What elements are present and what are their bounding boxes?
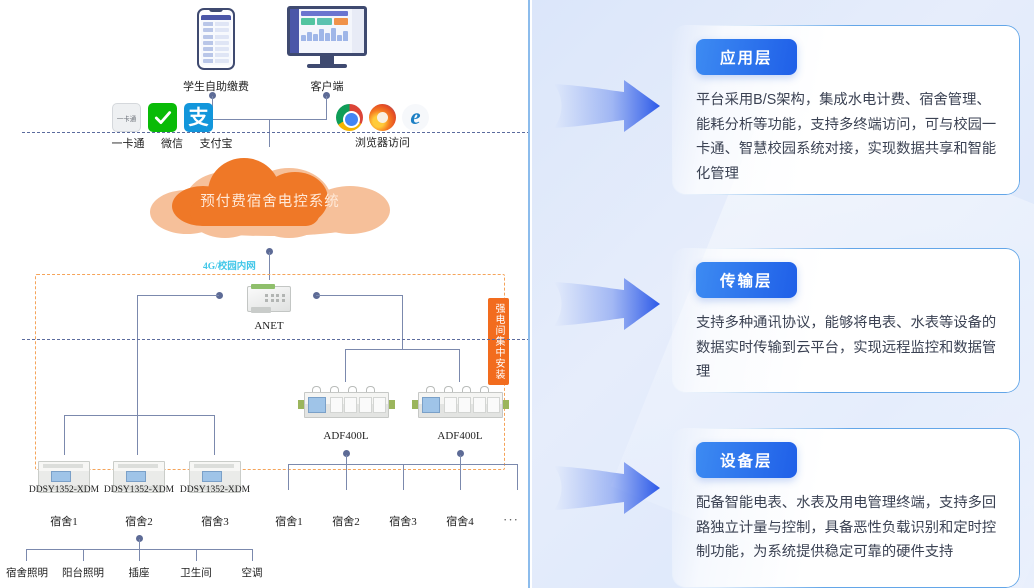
room-more-ellipsis: ··· — [503, 512, 519, 528]
student-self-payment-label: 学生自助缴费 — [166, 78, 266, 94]
connector-line — [345, 349, 346, 382]
connector-line — [26, 549, 27, 561]
connector-line — [459, 349, 460, 382]
room-label: 宿舍1 — [265, 513, 313, 529]
campus-card-icon: 一卡通 — [112, 103, 141, 132]
anet-gateway-icon — [247, 286, 291, 316]
alipay-glyph: 支 — [189, 108, 209, 128]
layer-card-device[interactable]: 设备层 配备智能电表、水表及用电管理终端，支持多回路独立计量与控制，具备恶性负载… — [672, 428, 1020, 588]
circuit-label: 宿舍照明 — [0, 565, 54, 580]
layer-description-panel: 应用层 平台采用B/S架构，集成水电计费、宿舍管理、能耗分析等功能，支持多终端访… — [532, 0, 1034, 588]
adf400l-unit — [412, 386, 509, 421]
campus-card-label: 一卡通 — [108, 135, 148, 151]
connector-line — [26, 549, 253, 550]
centralized-installation-label: 强电间集中安装 — [488, 298, 509, 385]
divider-transmission-layer — [22, 339, 530, 340]
layer-badge-application: 应用层 — [696, 39, 797, 75]
connector-line — [196, 549, 197, 561]
desktop-monitor-icon — [287, 6, 367, 72]
arrow-to-application-layer — [552, 70, 662, 142]
ddsy-meter-room: 宿舍3 — [175, 513, 255, 529]
connector-line — [214, 415, 215, 455]
layer-text-device: 配备智能电表、水表及用电管理终端，支持多回路独立计量与控制，具备恶性负载识别和定… — [696, 491, 1004, 565]
firefox-icon — [369, 104, 396, 131]
browser-icons: e — [336, 104, 429, 131]
connector-line — [403, 464, 404, 490]
browser-access-label: 浏览器访问 — [330, 134, 435, 150]
connector-line — [460, 455, 461, 490]
layer-card-transmission[interactable]: 传输层 支持多种通讯协议，能够将电表、水表等设备的数据实时传输到云平台，实现远程… — [672, 248, 1020, 393]
network-link-label: 4G/校园内网 — [203, 258, 256, 272]
connector-line — [346, 455, 347, 490]
ddsy-meter-room: 宿舍1 — [24, 513, 104, 529]
room-label: 宿舍3 — [379, 513, 427, 529]
connector-line — [326, 96, 327, 120]
ddsy-meter-model: DDSY1352-XDM — [170, 485, 260, 495]
arrow-to-device-layer — [552, 452, 662, 524]
wechat-label: 微信 — [152, 135, 192, 151]
connector-line — [288, 464, 289, 490]
alipay-label: 支付宝 — [196, 135, 236, 151]
circuit-label: 卫生间 — [169, 565, 223, 580]
layer-badge-device: 设备层 — [696, 442, 797, 478]
divider-application-layer — [22, 132, 530, 133]
layer-badge-transmission: 传输层 — [696, 262, 797, 298]
connector-line — [83, 549, 84, 561]
connector-line — [64, 415, 215, 416]
architecture-diagram-page: 学生自助缴费 — [0, 0, 1034, 588]
circuit-label: 空调 — [225, 565, 279, 580]
anet-gateway-label: ANET — [229, 320, 309, 332]
adf400l-unit — [298, 386, 395, 421]
arrow-to-transmission-layer — [552, 268, 662, 340]
payment-channel-icons: 一卡通 支 — [112, 103, 213, 132]
room-label: 宿舍2 — [322, 513, 370, 529]
connector-line — [345, 349, 460, 350]
connector-line — [517, 464, 518, 490]
connector-line — [64, 415, 65, 455]
campus-card-glyph: 一卡通 — [117, 113, 137, 123]
wechat-icon — [148, 103, 177, 132]
connector-line — [402, 295, 403, 350]
connector-line — [137, 415, 138, 455]
chrome-icon — [336, 104, 363, 131]
cloud-platform-label: 预付费宿舍电控系统 — [150, 190, 390, 211]
cloud-platform-graphic: 预付费宿舍电控系统 — [150, 150, 390, 235]
adf400l-label: ADF400L — [420, 430, 500, 442]
mobile-phone-icon — [197, 8, 235, 70]
connector-line — [316, 295, 403, 296]
layer-card-application[interactable]: 应用层 平台采用B/S架构，集成水电计费、宿舍管理、能耗分析等功能，支持多终端访… — [672, 25, 1020, 195]
connector-line — [137, 295, 138, 415]
payment-channel-labels: 一卡通 微信 支付宝 — [108, 135, 236, 151]
ddsy-meter-room: 宿舍2 — [99, 513, 179, 529]
adf400l-label: ADF400L — [306, 430, 386, 442]
connector-line — [137, 295, 219, 296]
system-topology-panel: 学生自助缴费 — [0, 0, 530, 588]
alipay-icon: 支 — [184, 103, 213, 132]
circuit-label: 阳台照明 — [56, 565, 110, 580]
connector-line — [269, 119, 270, 147]
connector-line — [252, 549, 253, 561]
circuit-label: 插座 — [112, 565, 166, 580]
layer-text-application: 平台采用B/S架构，集成水电计费、宿舍管理、能耗分析等功能，支持多终端访问，可与… — [696, 88, 1004, 186]
internet-explorer-icon: e — [402, 104, 429, 131]
layer-text-transmission: 支持多种通讯协议，能够将电表、水表等设备的数据实时传输到云平台，实现远程监控和数… — [696, 311, 1004, 385]
room-label: 宿舍4 — [436, 513, 484, 529]
